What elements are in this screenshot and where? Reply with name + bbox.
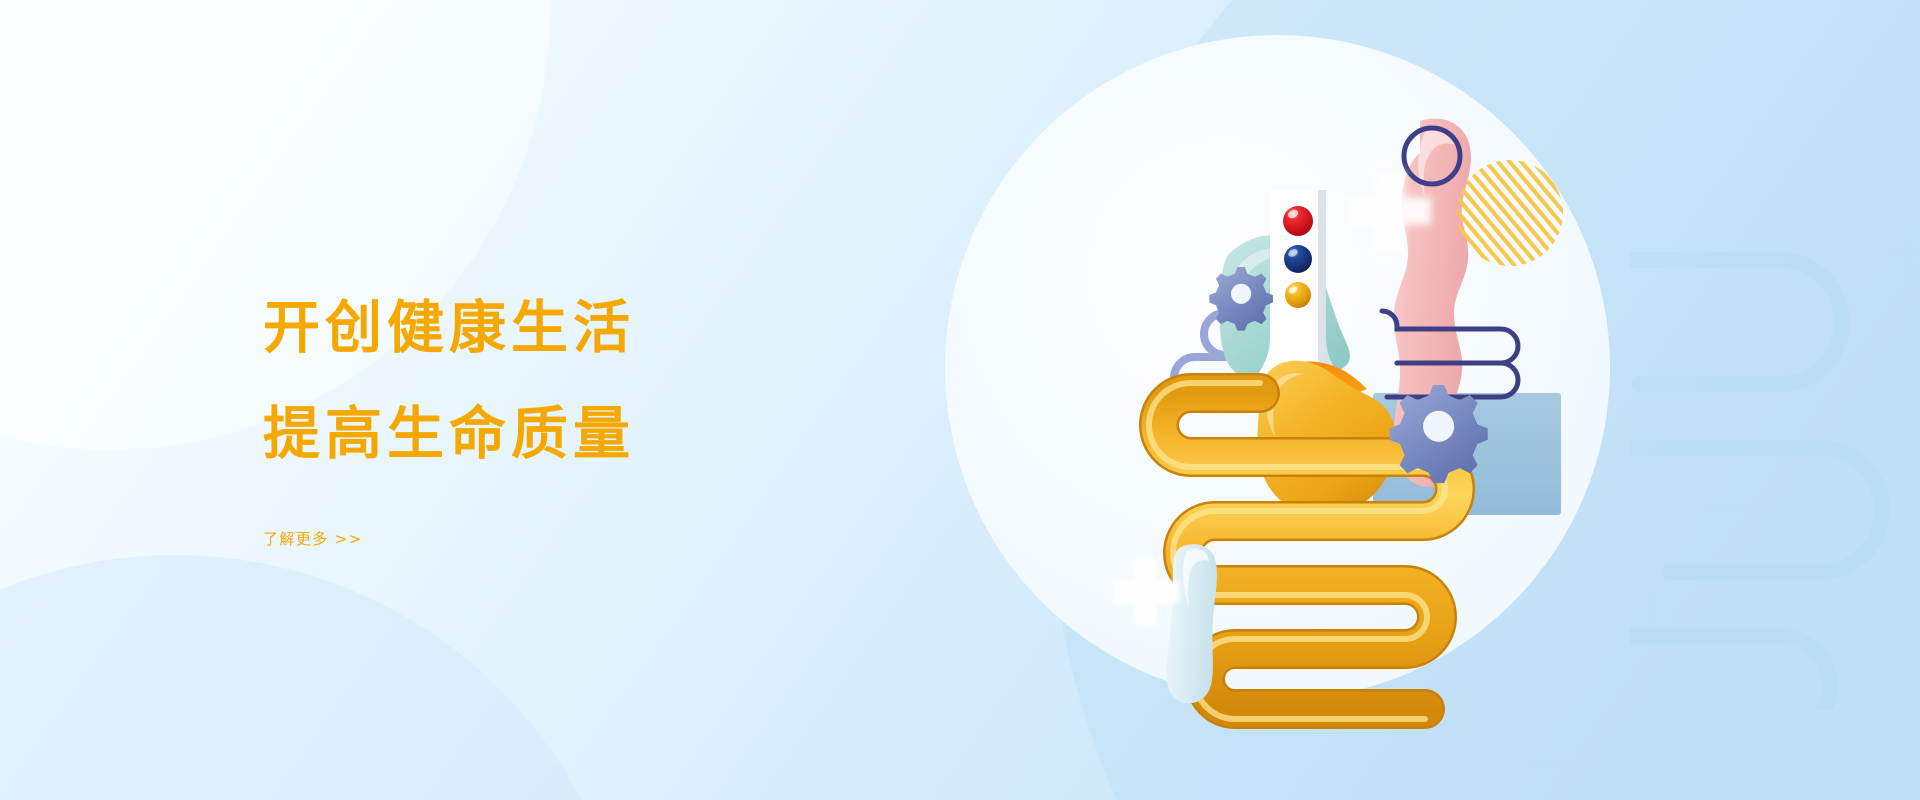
pill-navy-icon — [1284, 245, 1312, 273]
digestive-system-illustration — [1075, 95, 1635, 715]
pill-yellow-icon — [1285, 282, 1311, 308]
background-circle-bottom-left — [0, 555, 635, 800]
pill-red-icon — [1283, 206, 1313, 236]
gear-small-icon — [1209, 267, 1273, 331]
hero-copy: 开创健康生活 提高生命质量 了解更多 >> — [263, 300, 883, 549]
hero-banner: 开创健康生活 提高生命质量 了解更多 >> — [0, 0, 1920, 800]
striped-circle-icon — [1457, 160, 1563, 266]
background-intestine-watermark — [1630, 190, 1920, 710]
gear-large-icon — [1390, 385, 1488, 483]
page-title-line-1: 开创健康生活 — [263, 300, 883, 357]
page-title-line-2: 提高生命质量 — [263, 406, 883, 463]
learn-more-link[interactable]: 了解更多 >> — [263, 528, 363, 549]
